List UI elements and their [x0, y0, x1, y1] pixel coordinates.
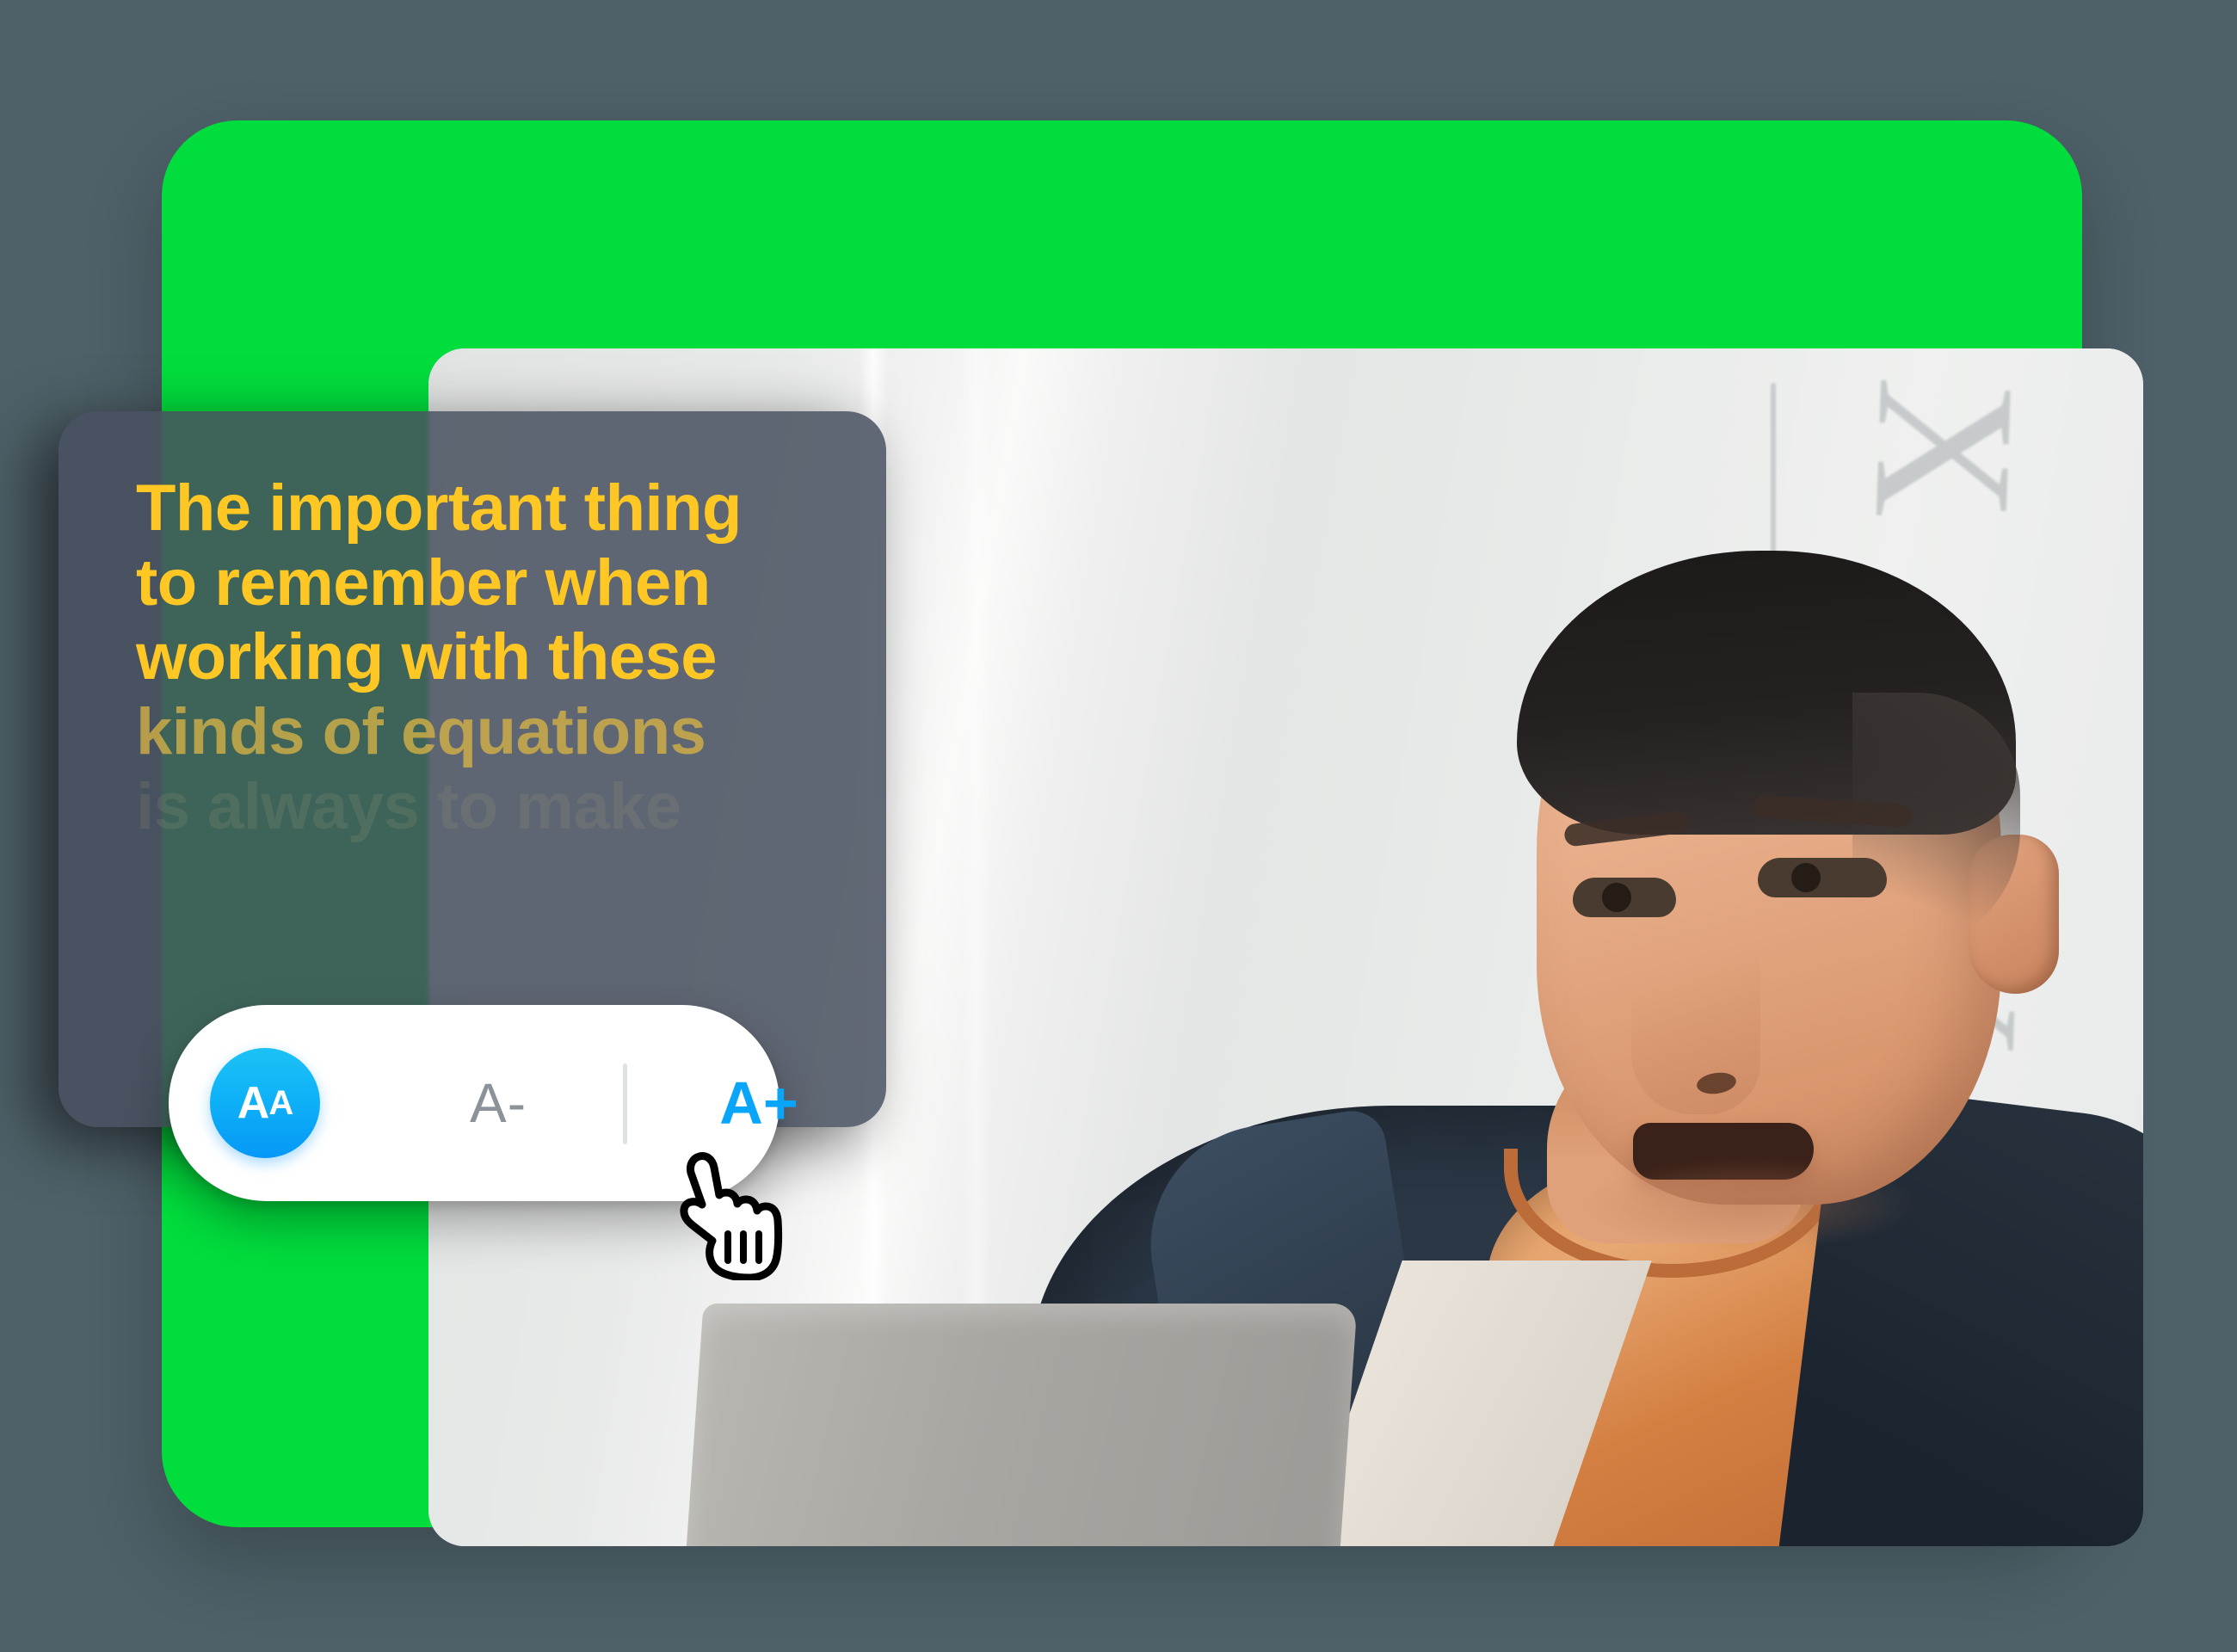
laptop-lid [669, 1304, 1357, 1546]
decrease-font-size-button[interactable]: A- [416, 1048, 580, 1158]
pill-divider [623, 1063, 627, 1144]
caption-line: to remember when [136, 546, 833, 621]
font-size-aa-badge[interactable]: AA [210, 1048, 320, 1158]
caption-text: The important thing to remember when wor… [136, 472, 833, 844]
increase-font-size-button[interactable]: A+ [673, 1043, 845, 1163]
caption-line: working with these [136, 620, 833, 695]
subject-eye-right [1758, 858, 1887, 897]
subject-nose [1631, 916, 1760, 1114]
caption-line: The important thing [136, 472, 833, 546]
screenshot-stage: X Y X M [0, 0, 2237, 1652]
aa-badge-letter-small: A [268, 1084, 293, 1123]
aa-badge-letter-large: A [237, 1077, 269, 1129]
caption-line: kinds of equations [136, 695, 833, 770]
subject-chin-shadow [1581, 1157, 1917, 1252]
font-size-control[interactable]: AA A- A+ [169, 1005, 780, 1201]
subject-pupil-right [1791, 863, 1821, 892]
caption-line: is always to make [136, 770, 833, 845]
subject-pupil-left [1602, 883, 1631, 912]
